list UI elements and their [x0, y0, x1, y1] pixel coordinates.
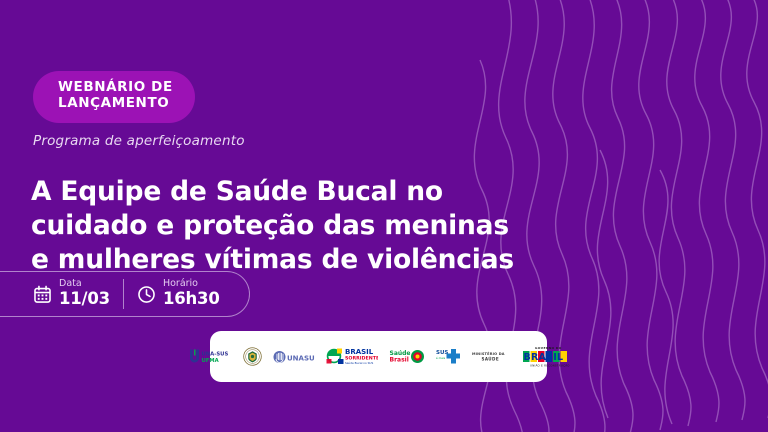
una-sus-ufma-logo: UNA-SUS UFMA: [188, 348, 232, 365]
sus-logo: SUS é mais: [436, 347, 460, 366]
svg-text:Saúde: Saúde: [389, 350, 410, 357]
event-time: Horário 16h30: [123, 279, 233, 308]
svg-text:UNASUS: UNASUS: [287, 354, 315, 362]
event-date-text: Data 11/03: [59, 279, 110, 308]
partner-logo-bar: UNA-SUS UFMA UNASUS: [210, 331, 547, 382]
event-date: Data 11/03: [20, 279, 123, 308]
svg-text:BRASIL: BRASIL: [523, 352, 563, 363]
svg-text:UFMA: UFMA: [201, 358, 219, 364]
webinar-banner: WEBNÁRIO DE LANÇAMENTO Programa de aperf…: [0, 0, 768, 432]
svg-text:SAÚDE: SAÚDE: [481, 357, 499, 362]
calendar-icon: [33, 285, 52, 304]
brasil-sorridente-logo: BRASIL SORRIDENTE Saúde Bucal no SUS: [326, 346, 378, 368]
page-title: A Equipe de Saúde Bucal no cuidado e pro…: [31, 175, 551, 277]
title-line-2: cuidado e proteção das meninas: [31, 209, 551, 243]
event-date-value: 11/03: [59, 290, 110, 308]
saude-brasil-logo: Saúde Brasil: [389, 348, 425, 365]
badge-line-1: WEBNÁRIO DE: [58, 80, 173, 96]
svg-text:BRASIL: BRASIL: [345, 348, 374, 356]
program-eyebrow: Programa de aperfeiçoamento: [33, 133, 245, 149]
svg-text:é mais: é mais: [436, 356, 446, 360]
launch-webinar-badge: WEBNÁRIO DE LANÇAMENTO: [33, 71, 195, 123]
svg-text:UNA-SUS: UNA-SUS: [201, 352, 228, 358]
svg-text:GOVERNO DO: GOVERNO DO: [535, 346, 562, 350]
event-time-value: 16h30: [163, 290, 220, 308]
clock-icon: [137, 285, 156, 304]
svg-text:MINISTÉRIO DA: MINISTÉRIO DA: [472, 351, 505, 356]
svg-text:Saúde Bucal no SUS: Saúde Bucal no SUS: [345, 361, 373, 365]
governo-do-brasil-logo: GOVERNO DO BRASIL UNIÃO E RECONSTRUÇÃO: [522, 345, 570, 369]
svg-text:UNIÃO E RECONSTRUÇÃO: UNIÃO E RECONSTRUÇÃO: [530, 362, 570, 367]
unasus-logo: UNASUS: [273, 349, 315, 365]
title-line-1: A Equipe de Saúde Bucal no: [31, 175, 551, 209]
event-info-pill: Data 11/03 Horário 16h30: [0, 271, 250, 317]
badge-line-2: LANÇAMENTO: [58, 96, 173, 112]
ministerio-da-saude-logo: MINISTÉRIO DA SAÚDE: [471, 349, 511, 364]
event-time-text: Horário 16h30: [163, 279, 220, 308]
ufma-seal-logo: [243, 347, 262, 366]
svg-text:Brasil: Brasil: [389, 357, 408, 364]
